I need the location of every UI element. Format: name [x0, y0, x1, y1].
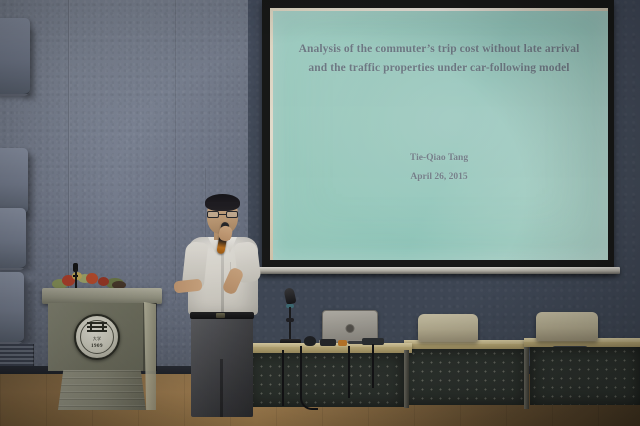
microphone-head-icon	[283, 287, 296, 305]
lens-left	[207, 211, 219, 218]
table-modesty-panel-left	[400, 349, 526, 405]
desk-microphone[interactable]	[283, 288, 299, 350]
glasses-bridge	[219, 214, 226, 215]
university-emblem: 大学 1909	[74, 314, 120, 360]
screen-bottom-rail	[256, 267, 620, 274]
eyeglasses	[207, 211, 238, 218]
screen-top-highlight	[270, 8, 608, 11]
slide-date: April 26, 2015	[270, 172, 608, 182]
cable	[348, 346, 350, 398]
lectern-side-edge	[144, 302, 156, 410]
speaker-person	[186, 196, 260, 422]
flower-arrangement	[52, 270, 134, 290]
lectern: 大学 1909	[48, 288, 156, 412]
lens-right	[226, 211, 238, 218]
projected-slide: Analysis of the commuter’s trip cost wit…	[270, 8, 608, 260]
emblem-mark-icon	[87, 322, 107, 335]
microphone-clamp	[286, 318, 294, 322]
wall-wedge-shadow	[24, 282, 34, 344]
flower	[98, 277, 109, 286]
projection-screen: Analysis of the commuter’s trip cost wit…	[262, 0, 614, 272]
table-modesty-panel-right	[530, 347, 640, 405]
lectern-top	[42, 288, 162, 304]
presentation-photo-scene: Analysis of the commuter’s trip cost wit…	[0, 0, 640, 426]
desk-item-puck	[304, 336, 316, 346]
hair	[205, 194, 240, 211]
table-leg	[404, 350, 409, 408]
dell-logo-icon	[346, 324, 355, 333]
desk-item-box	[320, 339, 336, 346]
acoustic-wedge	[0, 208, 26, 270]
lectern-base	[58, 370, 146, 410]
slide-author: Tie-Qiao Tang	[270, 153, 608, 163]
acoustic-wedge	[0, 18, 30, 96]
cable	[300, 346, 318, 410]
slide-title-line-1: Analysis of the commuter’s trip cost wit…	[284, 40, 594, 59]
trousers-shading	[191, 317, 253, 417]
shirt-placket	[221, 248, 224, 314]
chair-back-right	[536, 312, 598, 341]
acoustic-wedge	[0, 272, 24, 344]
cable	[372, 344, 374, 388]
slide-title: Analysis of the commuter’s trip cost wit…	[270, 40, 608, 78]
microphone-stem	[289, 307, 291, 341]
desk-item-orange	[338, 340, 347, 346]
belt-buckle	[216, 313, 225, 318]
slide-title-line-2: and the traffic properties under car-fol…	[284, 59, 594, 78]
podium-gooseneck-microphone[interactable]	[74, 263, 77, 291]
acoustic-wedge	[0, 148, 28, 216]
flower	[86, 273, 98, 284]
table-front-modesty-panel	[248, 353, 404, 407]
cable	[282, 350, 284, 406]
table-leg	[524, 347, 529, 409]
wall-seam	[175, 0, 176, 300]
chair-back-left	[418, 314, 478, 342]
